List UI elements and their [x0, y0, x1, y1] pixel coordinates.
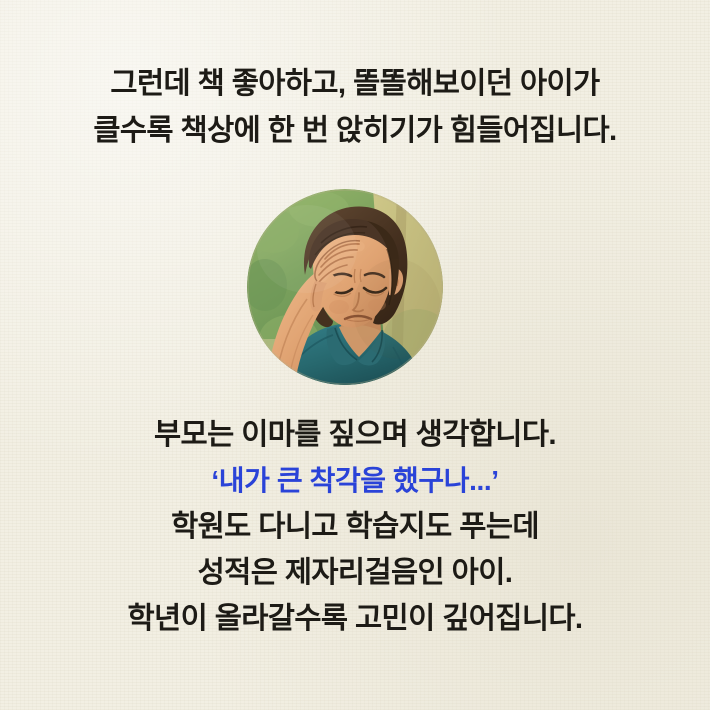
lower-line-4: 성적은 제자리걸음인 아이. [0, 550, 710, 596]
headline-block: 그런데 책 좋아하고, 똘똘해보이던 아이가 클수록 책상에 한 번 앉히기가 … [0, 60, 710, 154]
lower-line-1: 부모는 이마를 짚으며 생각합니다. [0, 412, 710, 458]
lower-line-5: 학년이 올라갈수록 고민이 깊어집니다. [0, 596, 710, 642]
portrait-illustration [247, 189, 443, 385]
headline-line-1: 그런데 책 좋아하고, 똘똘해보이던 아이가 [0, 60, 710, 107]
lower-line-quote: ‘내가 큰 착각을 했구나...’ [0, 458, 710, 504]
promo-card: 그런데 책 좋아하고, 똘똘해보이던 아이가 클수록 책상에 한 번 앉히기가 … [0, 0, 710, 710]
worried-parent-illustration [247, 189, 443, 385]
headline-line-2: 클수록 책상에 한 번 앉히기가 힘들어집니다. [0, 107, 710, 154]
lower-text-block: 부모는 이마를 짚으며 생각합니다. ‘내가 큰 착각을 했구나...’ 학원도… [0, 412, 710, 642]
lower-line-3: 학원도 다니고 학습지도 푸는데 [0, 504, 710, 550]
